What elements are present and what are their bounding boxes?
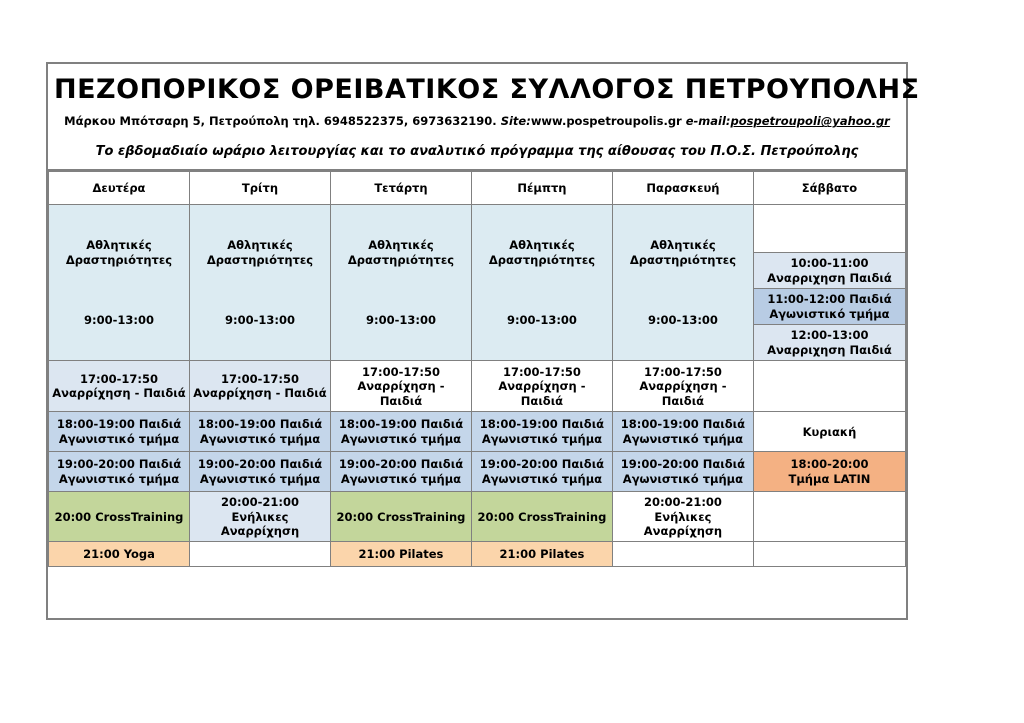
cell-tuesday-morning: Αθλητικές Δραστηριότητες 9:00-13:00 [189,205,330,361]
day-header-monday: Δευτέρα [49,172,190,205]
slot-time: 18:00-19:00 Παιδιά [52,417,186,431]
day-header-tuesday: Τρίτη [189,172,330,205]
slot-label: Αναρριχηση Παιδιά [757,271,902,285]
table-row-morning-1: Αθλητικές Δραστηριότητες 9:00-13:00 Αθλη… [49,205,906,253]
day-header-friday: Παρασκευή [612,172,753,205]
day-header-sunday: Κυριακή [753,412,905,452]
morning-hours: 9:00-13:00 [616,313,750,327]
slot-time: 19:00-20:00 Παιδιά [475,457,609,471]
slot-time: 17:00-17:50 [334,365,468,379]
activity-line-2: Δραστηριότητες [52,253,186,267]
table-row-1800: 18:00-19:00 Παιδιά Αγωνιστικό τμήμα 18:0… [49,412,906,452]
slot-time: 17:00-17:50 [475,365,609,379]
cell-friday-morning: Αθλητικές Δραστηριότητες 9:00-13:00 [612,205,753,361]
email-label: e-mail: [686,114,731,128]
cell-monday-1900: 19:00-20:00 Παιδιά Αγωνιστικό τμήμα [49,452,190,492]
cell-saturday-slot-1100: 11:00-12:00 Παιδιά Αγωνιστικό τμήμα [753,289,905,325]
contact-line: Μάρκου Μπότσαρη 5, Πετρούπολη τηλ. 69485… [54,114,900,128]
slot-label: Αγωνιστικό τμήμα [52,432,186,446]
cell-monday-1700: 17:00-17:50 Αναρρίχηση - Παιδιά [49,361,190,412]
cell-saturday-empty-top [753,205,905,253]
activity-line-1: Αθλητικές [334,238,468,252]
slot-label-1: Ενήλικες [616,510,750,524]
slot-label-2: Αναρρίχηση [616,524,750,538]
slot-time: 18:00-20:00 [757,457,902,471]
slot-label-1: Αναρρίχηση - [334,379,468,393]
table-row-2000: 20:00 CrossTraining 20:00-21:00 Ενήλικες… [49,492,906,542]
slot-time: 12:00-13:00 [757,328,902,342]
slot-label: Τμήμα LATIN [757,472,902,486]
cell-tuesday-1700: 17:00-17:50 Αναρρίχηση - Παιδιά [189,361,330,412]
cell-tuesday-2000: 20:00-21:00 Ενήλικες Αναρρίχηση [189,492,330,542]
cell-wednesday-1700: 17:00-17:50 Αναρρίχηση - Παιδιά [330,361,471,412]
activity-line-2: Δραστηριότητες [616,253,750,267]
cell-sunday-2100-empty [753,542,905,567]
cell-sunday-latin: 18:00-20:00 Τμήμα LATIN [753,452,905,492]
slot-time: 19:00-20:00 Παιδιά [193,457,327,471]
header-subtitle: Το εβδομαδιαίο ωράριο λειτουργίας και το… [54,144,900,159]
cell-tuesday-1900: 19:00-20:00 Παιδιά Αγωνιστικό τμήμα [189,452,330,492]
slot-label: Αγωνιστικό τμήμα [334,432,468,446]
cell-monday-1800: 18:00-19:00 Παιδιά Αγωνιστικό τμήμα [49,412,190,452]
slot-time: 20:00-21:00 Ενήλικες [193,495,327,524]
cell-monday-morning: Αθλητικές Δραστηριότητες 9:00-13:00 [49,205,190,361]
table-header-row: Δευτέρα Τρίτη Τετάρτη Πέμπτη Παρασκευή Σ… [49,172,906,205]
table-row-1900: 19:00-20:00 Παιδιά Αγωνιστικό τμήμα 19:0… [49,452,906,492]
cell-wednesday-morning: Αθλητικές Δραστηριότητες 9:00-13:00 [330,205,471,361]
slot-time: 17:00-17:50 [616,365,750,379]
cell-thursday-morning: Αθλητικές Δραστηριότητες 9:00-13:00 [471,205,612,361]
cell-wednesday-1900: 19:00-20:00 Παιδιά Αγωνιστικό τμήμα [330,452,471,492]
slot-label: Αγωνιστικό τμήμα [616,432,750,446]
cell-friday-2100-empty [612,542,753,567]
activity-line-1: Αθλητικές [52,238,186,252]
table-row-2100: 21:00 Yoga 21:00 Pilates 21:00 Pilates [49,542,906,567]
day-header-saturday: Σάββατο [753,172,905,205]
cell-thursday-2100: 21:00 Pilates [471,542,612,567]
slot-label: Αγωνιστικό τμήμα [616,472,750,486]
cell-wednesday-2100: 21:00 Pilates [330,542,471,567]
cell-sunday-2000-empty [753,492,905,542]
slot-label-1: Αναρρίχηση - [475,379,609,393]
slot-label-2: Παιδιά [616,394,750,408]
cell-friday-2000: 20:00-21:00 Ενήλικες Αναρρίχηση [612,492,753,542]
slot-label: Αγωνιστικό τμήμα [193,432,327,446]
slot-label: Αγωνιστικό τμήμα [475,472,609,486]
cell-monday-2000: 20:00 CrossTraining [49,492,190,542]
cell-monday-2100: 21:00 Yoga [49,542,190,567]
cell-thursday-1900: 19:00-20:00 Παιδιά Αγωνιστικό τμήμα [471,452,612,492]
slot-time: 19:00-20:00 Παιδιά [52,457,186,471]
schedule-sheet: ΠΕΖΟΠΟΡΙΚΟΣ ΟΡΕΙΒΑΤΙΚΟΣ ΣΥΛΛΟΓΟΣ ΠΕΤΡΟΥΠ… [46,62,908,620]
table-row-1700: 17:00-17:50 Αναρρίχηση - Παιδιά 17:00-17… [49,361,906,412]
email-link[interactable]: pospetroupoli@yahoo.gr [731,114,890,128]
contact-address: Μάρκου Μπότσαρη 5, Πετρούπολη τηλ. 69485… [64,114,501,128]
activity-line-1: Αθλητικές [616,238,750,252]
cell-friday-1800: 18:00-19:00 Παιδιά Αγωνιστικό τμήμα [612,412,753,452]
cell-thursday-1800: 18:00-19:00 Παιδιά Αγωνιστικό τμήμα [471,412,612,452]
activity-line-2: Δραστηριότητες [193,253,327,267]
slot-label-2: Παιδιά [334,394,468,408]
slot-time: 18:00-19:00 Παιδιά [334,417,468,431]
activity-line-1: Αθλητικές [193,238,327,252]
slot-label: Αναρριχηση Παιδιά [757,343,902,357]
slot-label: Αγωνιστικό τμήμα [193,472,327,486]
cell-thursday-1700: 17:00-17:50 Αναρρίχηση - Παιδιά [471,361,612,412]
slot-label: Αγωνιστικό τμήμα [757,307,902,321]
morning-hours: 9:00-13:00 [193,313,327,327]
slot-label: Αγωνιστικό τμήμα [475,432,609,446]
activity-line-2: Δραστηριότητες [334,253,468,267]
cell-tuesday-1800: 18:00-19:00 Παιδιά Αγωνιστικό τμήμα [189,412,330,452]
weekly-schedule-table: Δευτέρα Τρίτη Τετάρτη Πέμπτη Παρασκευή Σ… [48,171,906,567]
slot-label: Αναρρίχηση - Παιδιά [193,386,327,400]
slot-time: 10:00-11:00 [757,256,902,270]
cell-friday-1900: 19:00-20:00 Παιδιά Αγωνιστικό τμήμα [612,452,753,492]
site-label: Site: [501,114,531,128]
cell-thursday-2000: 20:00 CrossTraining [471,492,612,542]
morning-hours: 9:00-13:00 [475,313,609,327]
document-header: ΠΕΖΟΠΟΡΙΚΟΣ ΟΡΕΙΒΑΤΙΚΟΣ ΣΥΛΛΟΓΟΣ ΠΕΤΡΟΥΠ… [48,64,906,171]
morning-hours: 9:00-13:00 [334,313,468,327]
cell-tuesday-2100-empty [189,542,330,567]
cell-wednesday-1800: 18:00-19:00 Παιδιά Αγωνιστικό τμήμα [330,412,471,452]
slot-time: 19:00-20:00 Παιδιά [616,457,750,471]
day-header-thursday: Πέμπτη [471,172,612,205]
slot-time: 11:00-12:00 Παιδιά [757,292,902,306]
activity-line-2: Δραστηριότητες [475,253,609,267]
slot-time: 18:00-19:00 Παιδιά [475,417,609,431]
cell-friday-1700: 17:00-17:50 Αναρρίχηση - Παιδιά [612,361,753,412]
slot-time: 18:00-19:00 Παιδιά [193,417,327,431]
slot-time: 17:00-17:50 [193,372,327,386]
slot-label: Αναρρίχηση [193,524,327,538]
day-header-wednesday: Τετάρτη [330,172,471,205]
slot-label: Αγωνιστικό τμήμα [52,472,186,486]
slot-label-1: Αναρρίχηση - [616,379,750,393]
cell-saturday-slot-1000: 10:00-11:00 Αναρριχηση Παιδιά [753,253,905,289]
cell-wednesday-2000: 20:00 CrossTraining [330,492,471,542]
site-value: www.pospetroupolis.gr [531,114,686,128]
cell-saturday-slot-1200: 12:00-13:00 Αναρριχηση Παιδιά [753,325,905,361]
slot-time: 20:00-21:00 [616,495,750,509]
page-title: ΠΕΖΟΠΟΡΙΚΟΣ ΟΡΕΙΒΑΤΙΚΟΣ ΣΥΛΛΟΓΟΣ ΠΕΤΡΟΥΠ… [54,76,900,104]
slot-label: Αναρρίχηση - Παιδιά [52,386,186,400]
cell-saturday-1700-empty [753,361,905,412]
slot-label: Αγωνιστικό τμήμα [334,472,468,486]
slot-time: 19:00-20:00 Παιδιά [334,457,468,471]
activity-line-1: Αθλητικές [475,238,609,252]
slot-time: 18:00-19:00 Παιδιά [616,417,750,431]
morning-hours: 9:00-13:00 [52,313,186,327]
slot-label-2: Παιδιά [475,394,609,408]
slot-time: 17:00-17:50 [52,372,186,386]
